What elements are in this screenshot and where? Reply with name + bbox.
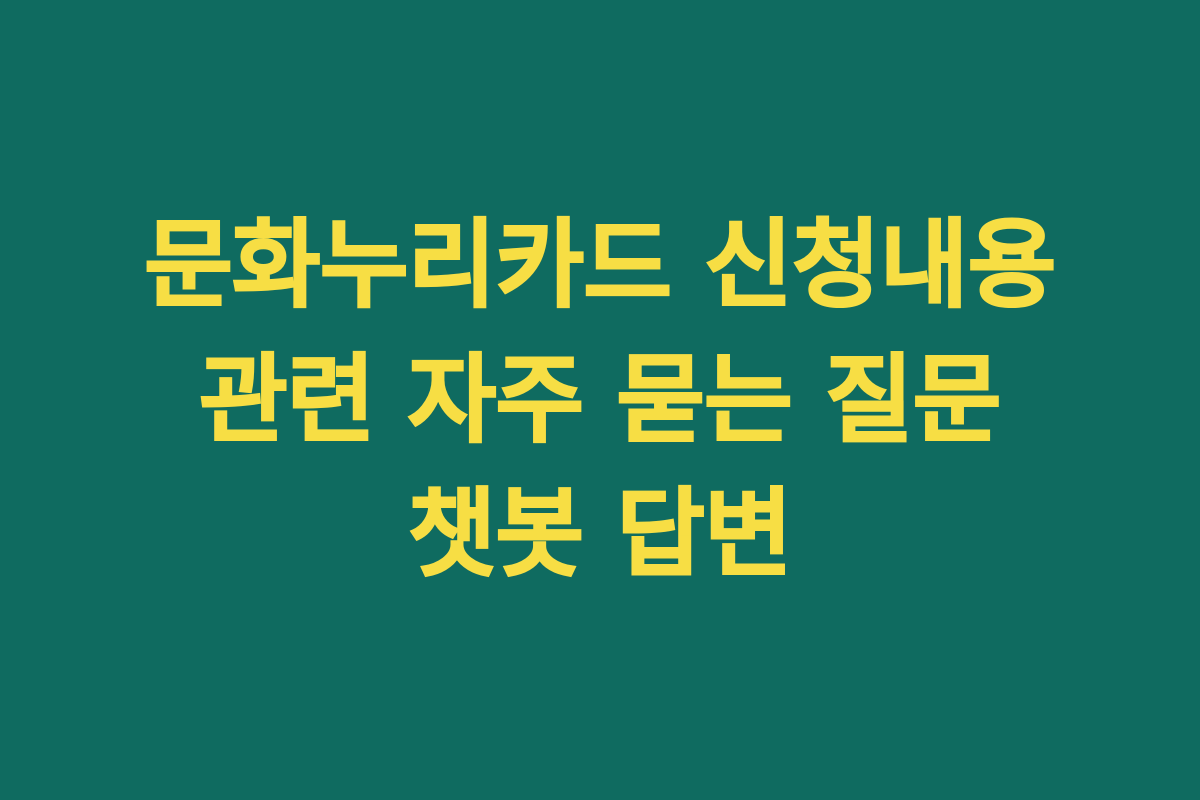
title-block: 문화누리카드 신청내용 관련 자주 묻는 질문 챗봇 답변 [96, 198, 1104, 601]
title-card: 문화누리카드 신청내용 관련 자주 묻는 질문 챗봇 답변 [0, 0, 1200, 800]
page-title: 문화누리카드 신청내용 관련 자주 묻는 질문 챗봇 답변 [96, 198, 1104, 601]
